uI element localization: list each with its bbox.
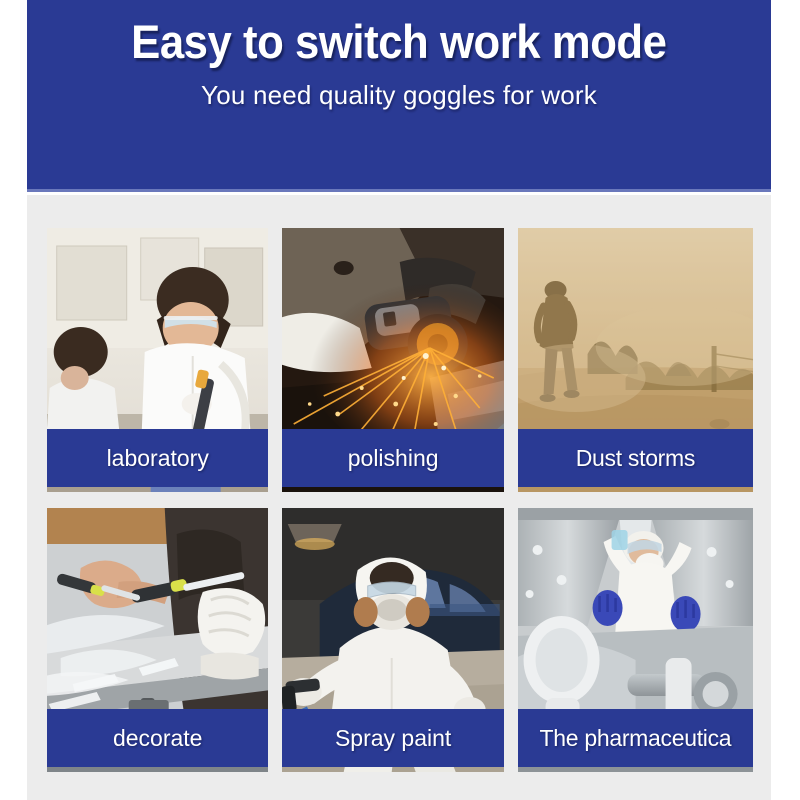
page-title: Easy to switch work mode xyxy=(131,16,666,68)
card-label-text: decorate xyxy=(113,725,203,752)
card-label-decorate: decorate xyxy=(47,709,268,767)
grid-row: laboratory xyxy=(47,228,753,492)
card-label-text: The pharmaceutica xyxy=(540,725,732,752)
scenario-card-laboratory[interactable]: laboratory xyxy=(47,228,268,492)
scenario-card-pharmaceutical[interactable]: The pharmaceutica xyxy=(518,508,753,772)
card-label-text: Spray paint xyxy=(335,725,451,752)
card-label-laboratory: laboratory xyxy=(47,429,268,487)
card-label-polishing: polishing xyxy=(282,429,503,487)
card-label-text: polishing xyxy=(348,445,439,472)
scenario-card-decorate[interactable]: decorate xyxy=(47,508,268,772)
grid-row: decorate xyxy=(47,508,753,772)
page-subtitle: You need quality goggles for work xyxy=(201,80,597,111)
card-label-text: laboratory xyxy=(107,445,209,472)
card-label-pharmaceutical: The pharmaceutica xyxy=(518,709,753,767)
usage-scenario-grid: laboratory xyxy=(47,228,753,772)
card-label-dust-storms: Dust storms xyxy=(518,429,753,487)
header-banner: Easy to switch work mode You need qualit… xyxy=(27,0,771,192)
scenario-card-dust-storms[interactable]: Dust storms xyxy=(518,228,753,492)
card-label-spray-paint: Spray paint xyxy=(282,709,503,767)
promo-page: Easy to switch work mode You need qualit… xyxy=(0,0,800,800)
content-area: laboratory xyxy=(27,195,771,800)
scenario-card-polishing[interactable]: polishing xyxy=(282,228,503,492)
scenario-card-spray-paint[interactable]: Spray paint xyxy=(282,508,503,772)
card-label-text: Dust storms xyxy=(576,445,695,472)
